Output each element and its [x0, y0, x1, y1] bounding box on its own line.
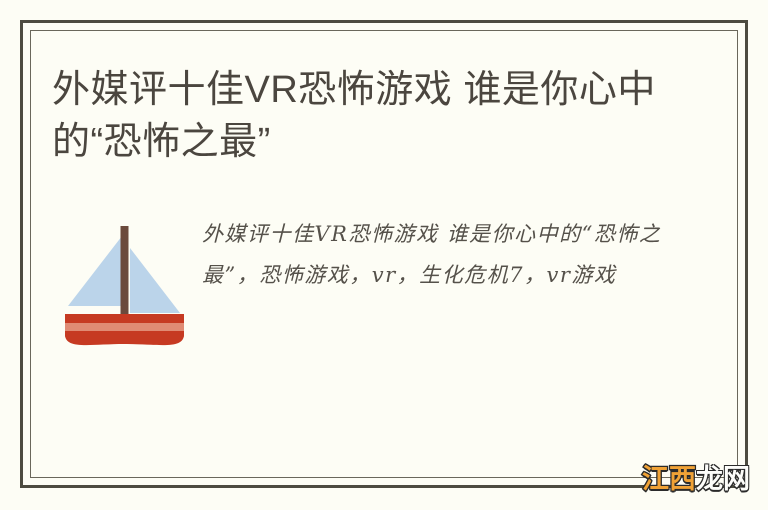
page-title: 外媒评十佳VR恐怖游戏 谁是你心中的“恐怖之最”: [52, 64, 672, 168]
article-thumbnail: [52, 208, 202, 353]
watermark-text-white: 龙网: [696, 464, 750, 494]
article-summary: 外媒评十佳VR恐怖游戏 谁是你心中的“恐怖之最”，恐怖游戏，vr，生化危机7，v…: [202, 208, 672, 296]
sailboat-icon: [62, 218, 187, 348]
article-card-page: 外媒评十佳VR恐怖游戏 谁是你心中的“恐怖之最” 外媒评十佳VR恐怖游戏 谁是你…: [0, 0, 768, 510]
article-content-row: 外媒评十佳VR恐怖游戏 谁是你心中的“恐怖之最”，恐怖游戏，vr，生化危机7，v…: [52, 208, 672, 353]
site-watermark: 江西龙网: [642, 464, 750, 494]
watermark-text-orange: 江西: [642, 464, 696, 494]
